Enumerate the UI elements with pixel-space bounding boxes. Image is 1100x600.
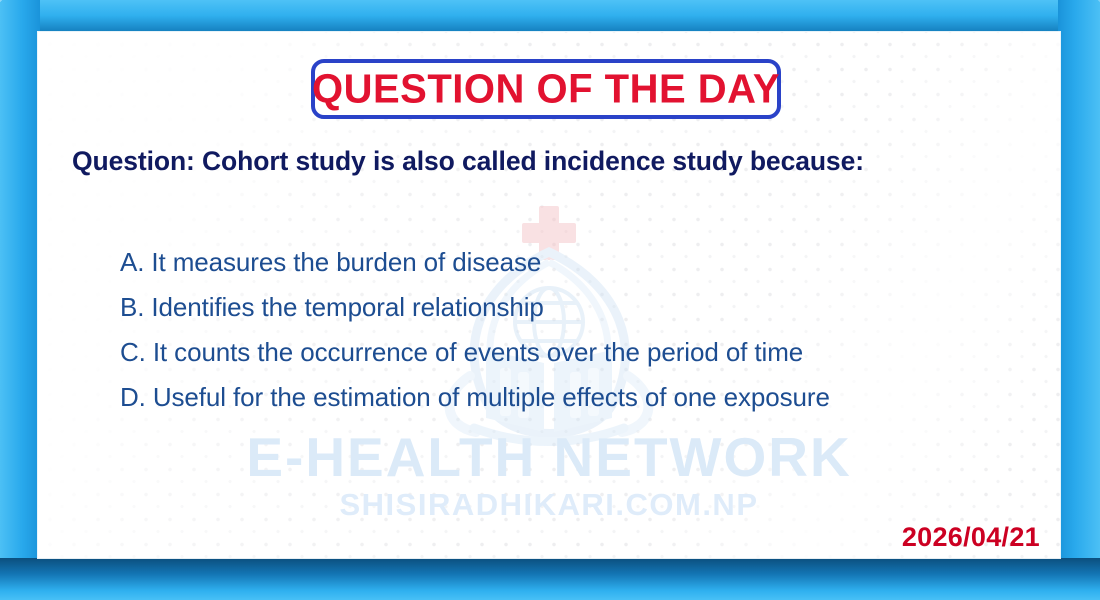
answer-options-list: A.It measures the burden of disease B.Id… <box>120 240 1050 420</box>
frame-bevel-bottom <box>0 558 1100 600</box>
answer-option-a[interactable]: A.It measures the burden of disease <box>120 240 1050 285</box>
frame-bevel-top <box>0 0 1100 34</box>
option-text-c: It counts the occurrence of events over … <box>153 337 803 367</box>
poster-frame: E-HEALTH NETWORK SHISIRADHIKARI.COM.NP Q… <box>0 0 1100 600</box>
option-label-c: C. <box>120 337 146 367</box>
title-banner: QUESTION OF THE DAY <box>311 59 781 119</box>
question-card: E-HEALTH NETWORK SHISIRADHIKARI.COM.NP Q… <box>38 32 1060 558</box>
option-label-a: A. <box>120 247 144 277</box>
frame-bevel-left <box>0 0 40 600</box>
option-text-d: Useful for the estimation of multiple ef… <box>153 382 830 412</box>
option-label-d: D. <box>120 382 146 412</box>
question-text: Question: Cohort study is also called in… <box>72 144 972 179</box>
answer-option-b[interactable]: B.Identifies the temporal relationship <box>120 285 1050 330</box>
answer-option-d[interactable]: D.Useful for the estimation of multiple … <box>120 375 1050 420</box>
watermark-brand: E-HEALTH NETWORK <box>38 425 1060 489</box>
date-label: 2026/04/21 <box>902 522 1040 553</box>
frame-bevel-right <box>1058 0 1100 600</box>
option-label-b: B. <box>120 292 144 322</box>
option-text-a: It measures the burden of disease <box>151 247 541 277</box>
option-text-b: Identifies the temporal relationship <box>151 292 543 322</box>
answer-option-c[interactable]: C.It counts the occurrence of events ove… <box>120 330 1050 375</box>
page-title: QUESTION OF THE DAY <box>312 68 780 109</box>
watermark-domain: SHISIRADHIKARI.COM.NP <box>38 487 1060 523</box>
